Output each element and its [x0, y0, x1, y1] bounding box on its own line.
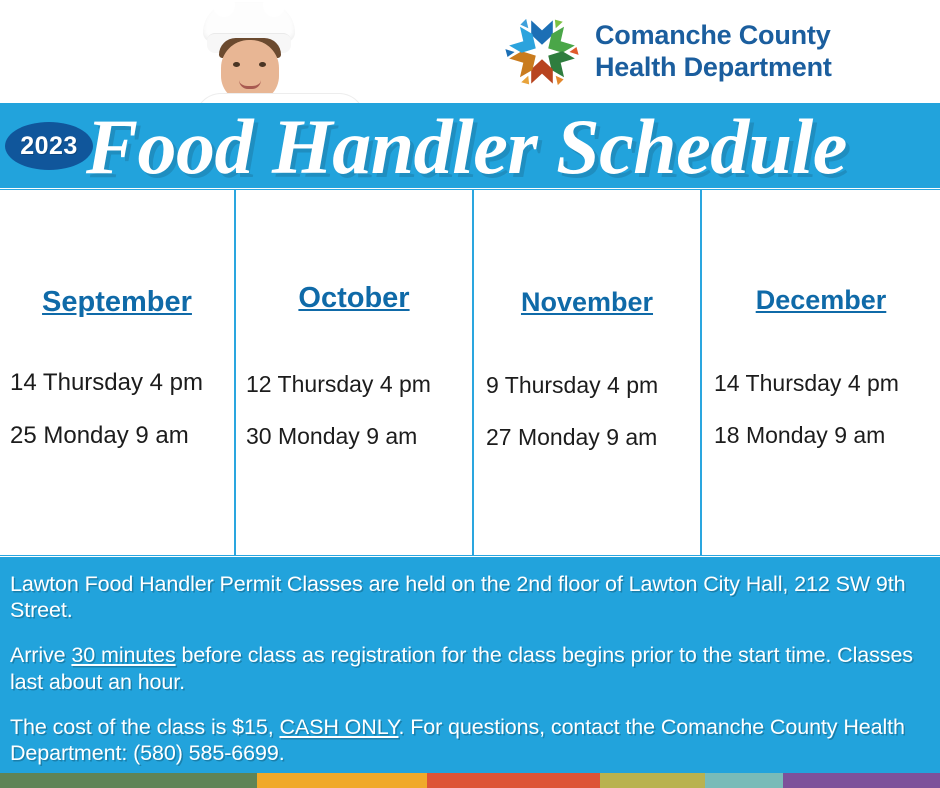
strip-segment-purple	[783, 773, 940, 788]
arrival-emphasis: 30 minutes	[71, 643, 175, 667]
cost-emphasis: CASH ONLY	[279, 715, 398, 739]
chef-eye-left	[233, 62, 240, 67]
strip-segment-olive	[600, 773, 705, 788]
strip-segment-red	[427, 773, 600, 788]
schedule-table: September 14 Thursday 4 pm 25 Monday 9 a…	[0, 189, 940, 556]
class-date-item: 27 Monday 9 am	[486, 426, 700, 449]
title-banner: 2023 Food Handler Schedule	[0, 103, 940, 188]
month-heading: October	[236, 282, 472, 315]
info-paragraph-cost: The cost of the class is $15, CASH ONLY.…	[10, 714, 928, 766]
class-date-item: 9 Thursday 4 pm	[486, 374, 700, 397]
month-heading: September	[0, 286, 234, 319]
class-date-list: 9 Thursday 4 pm 27 Monday 9 am	[474, 374, 700, 478]
page-title: Food Handler Schedule	[86, 101, 940, 193]
strip-segment-green	[0, 773, 257, 788]
organization-name: Comanche County Health Department	[595, 20, 832, 83]
info-paragraph-location: Lawton Food Handler Permit Classes are h…	[10, 571, 928, 623]
header-bar: Comanche County Health Department	[0, 0, 940, 103]
month-heading: November	[474, 287, 700, 318]
year-label: 2023	[20, 132, 78, 161]
cost-text-pre: The cost of the class is $15,	[10, 715, 279, 739]
info-paragraph-arrival: Arrive 30 minutes before class as regist…	[10, 642, 928, 694]
org-name-line1: Comanche County	[595, 20, 832, 52]
month-heading: December	[702, 285, 940, 316]
month-column-september: September 14 Thursday 4 pm 25 Monday 9 a…	[0, 190, 236, 555]
organization-logo: Comanche County Health Department	[503, 14, 923, 90]
org-name-line2: Health Department	[595, 52, 832, 84]
info-panel: Lawton Food Handler Permit Classes are h…	[0, 557, 940, 773]
class-date-list: 14 Thursday 4 pm 18 Monday 9 am	[702, 372, 940, 476]
class-date-item: 14 Thursday 4 pm	[10, 371, 234, 395]
month-column-november: November 9 Thursday 4 pm 27 Monday 9 am	[474, 190, 702, 555]
class-date-item: 14 Thursday 4 pm	[714, 372, 940, 395]
class-date-item: 25 Monday 9 am	[10, 424, 234, 448]
class-date-item: 18 Monday 9 am	[714, 424, 940, 447]
year-badge: 2023	[5, 122, 93, 170]
chef-eye-right	[259, 62, 266, 67]
strip-segment-yellow	[257, 773, 427, 788]
class-date-item: 12 Thursday 4 pm	[246, 373, 472, 396]
footer-color-strip	[0, 773, 940, 788]
flyer-page: Comanche County Health Department 2023 F…	[0, 0, 940, 788]
month-column-october: October 12 Thursday 4 pm 30 Monday 9 am	[236, 190, 474, 555]
arrival-text-pre: Arrive	[10, 643, 71, 667]
class-date-list: 12 Thursday 4 pm 30 Monday 9 am	[236, 373, 472, 477]
pinwheel-star-logo-icon	[503, 16, 581, 88]
strip-segment-teal	[705, 773, 783, 788]
month-column-december: December 14 Thursday 4 pm 18 Monday 9 am	[702, 190, 940, 555]
class-date-list: 14 Thursday 4 pm 25 Monday 9 am	[0, 371, 234, 477]
class-date-item: 30 Monday 9 am	[246, 425, 472, 448]
